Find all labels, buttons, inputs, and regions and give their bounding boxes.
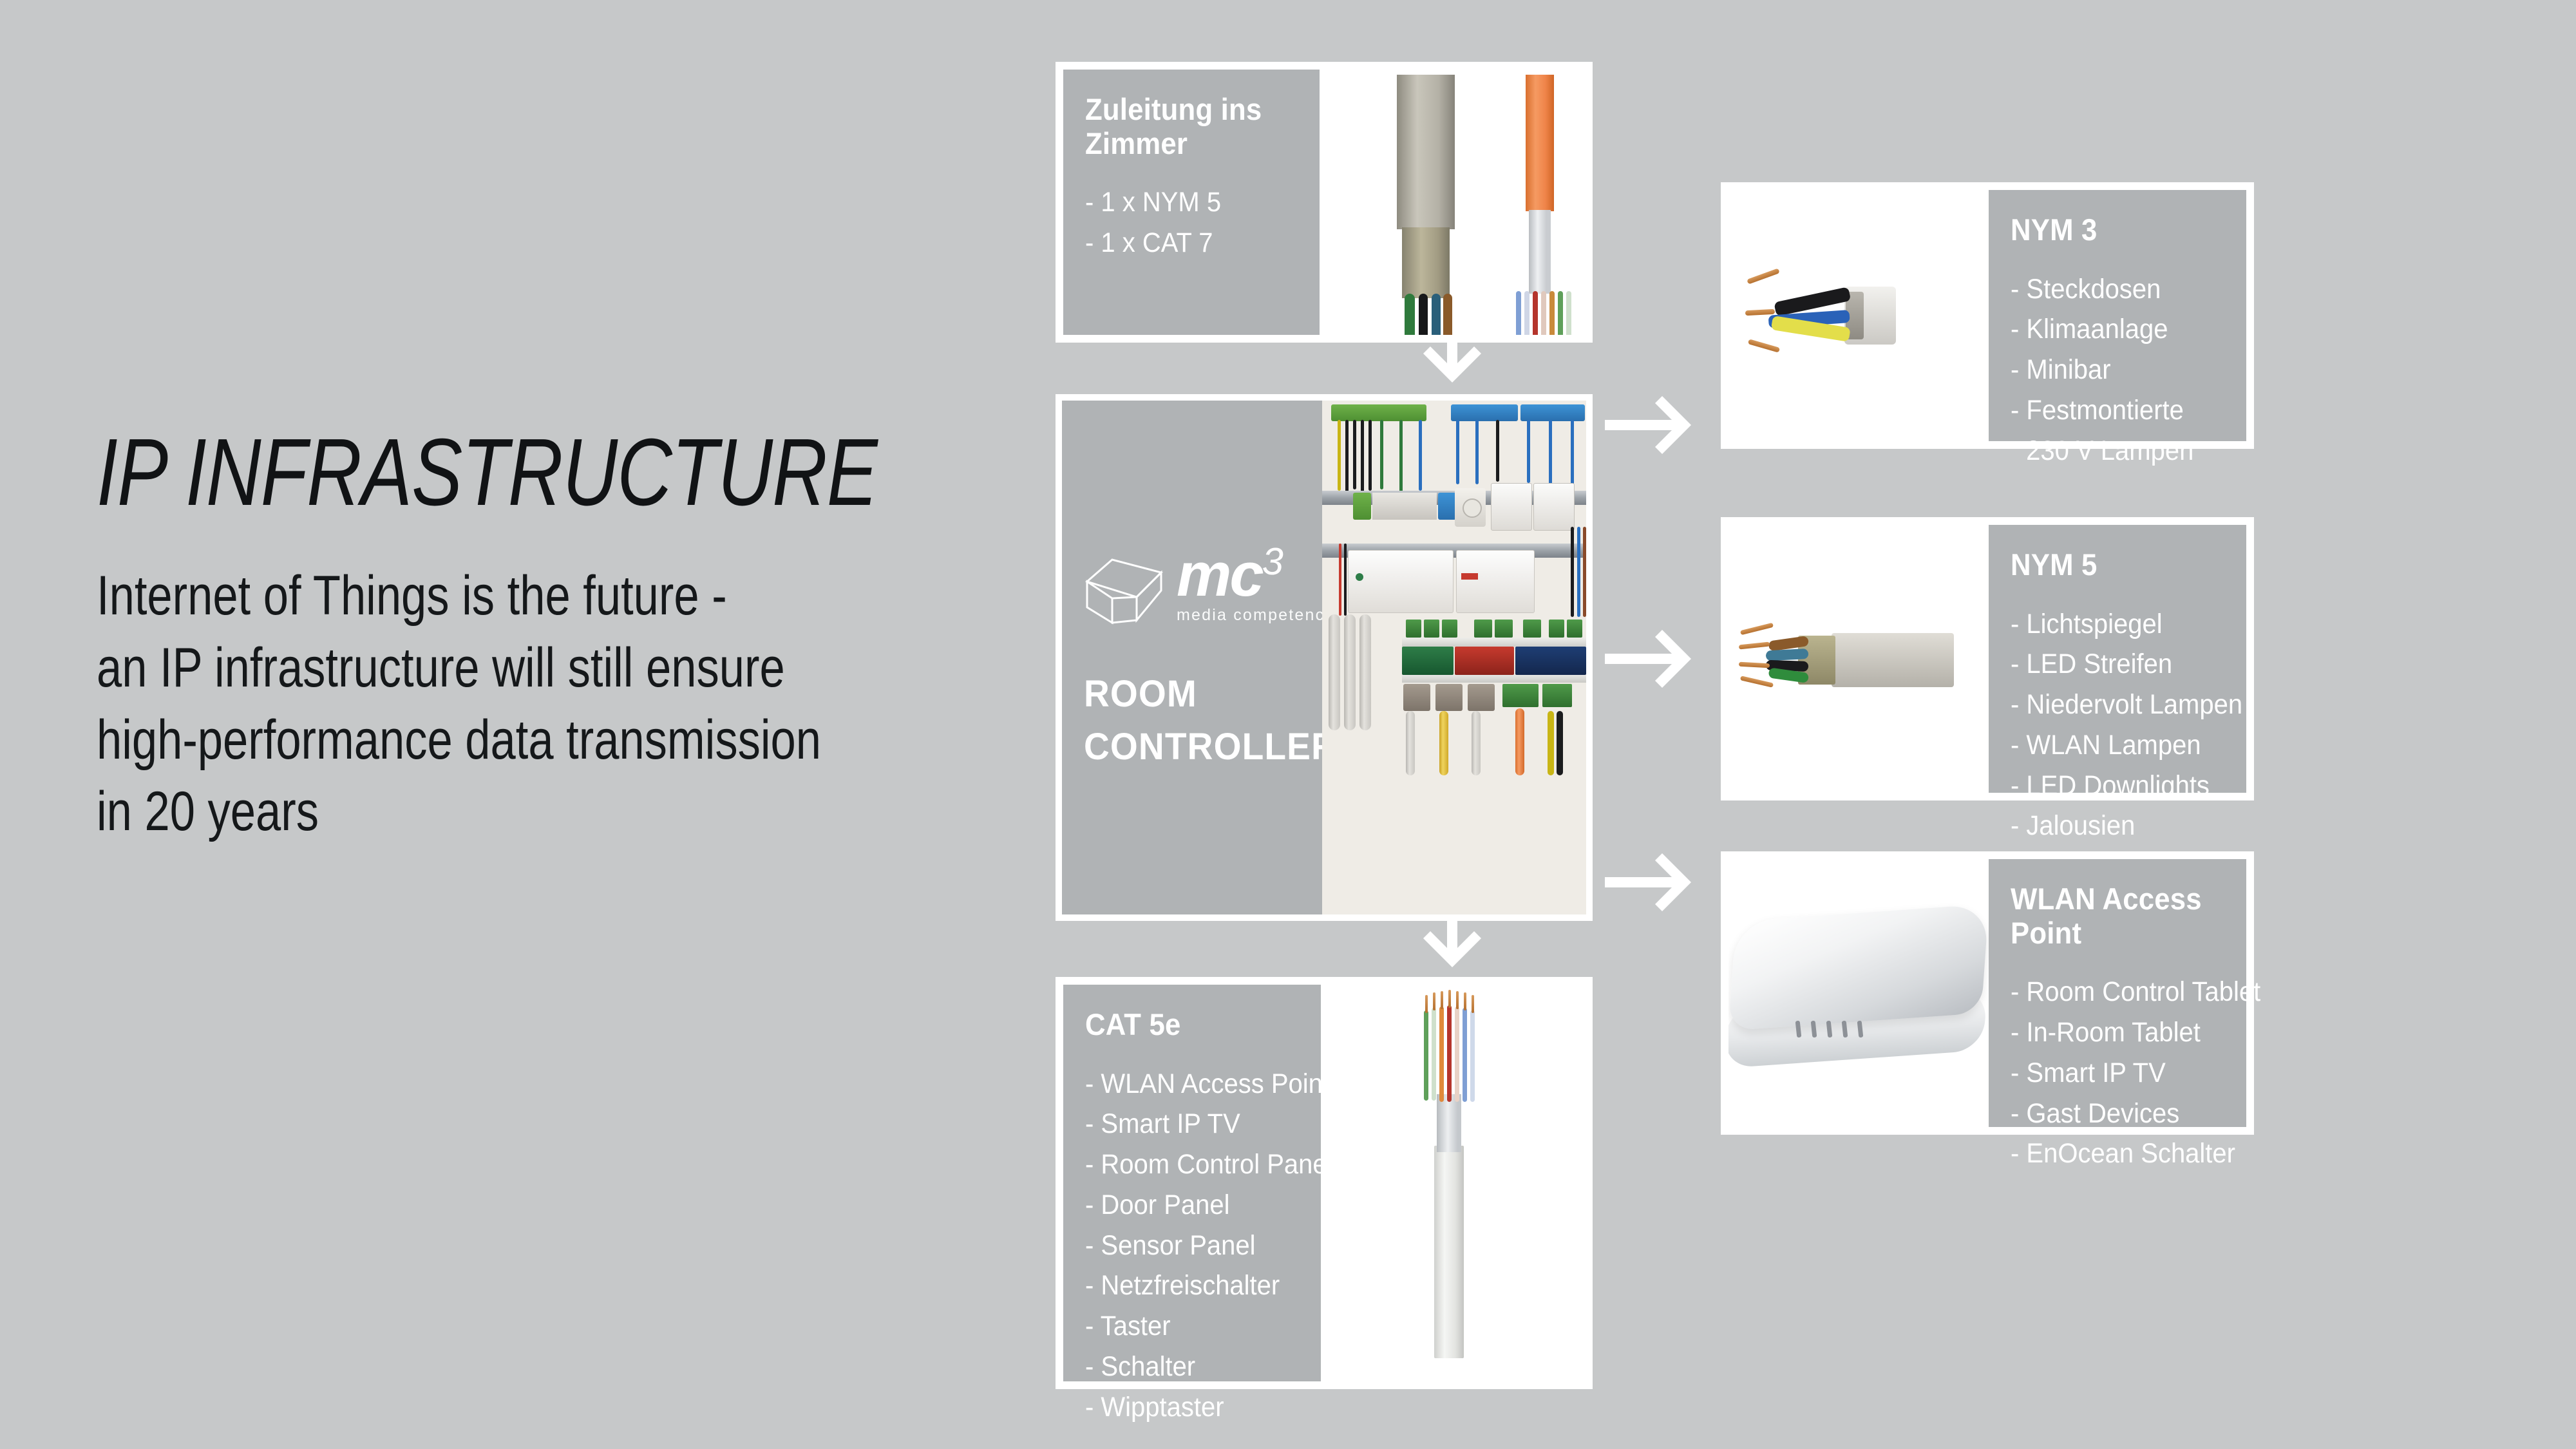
- mc3-logo: mc3 media competence: [1084, 542, 1300, 628]
- nym3-cable-photo: [1728, 190, 1989, 441]
- card-zuleitung-ins-zimmer[interactable]: Zuleitung ins Zimmer - 1 x NYM 5 - 1 x C…: [1056, 62, 1593, 343]
- arrow-roomcontroller-to-wlan: [1605, 851, 1714, 913]
- subtitle-line-4: in 20 years: [97, 776, 889, 848]
- list-item: 230 V Lampen: [2011, 431, 2210, 471]
- card-room-controller[interactable]: mc3 media competence ROOM CONTROLLER: [1056, 394, 1593, 921]
- wlan-access-point-photo: [1728, 859, 1989, 1127]
- list-item: - WLAN Lampen: [2011, 725, 2210, 766]
- list-item: - Jalousien: [2011, 806, 2210, 846]
- list-item: - Door Panel: [1085, 1185, 1284, 1226]
- card-nym3[interactable]: NYM 3 - Steckdosen - Klimaanlage - Minib…: [1721, 182, 2254, 449]
- card-zuleitung-title-line-2: Zimmer: [1085, 126, 1188, 160]
- card-zuleitung-title-line-1: Zuleitung ins: [1085, 92, 1262, 126]
- list-item: - Steckdosen: [2011, 269, 2210, 310]
- card-nym5-panel: NYM 5 - Lichtspiegel - LED Streifen - Ni…: [1989, 525, 2246, 793]
- arrow-roomcontroller-to-nym3: [1605, 394, 1714, 456]
- slide-canvas: IP INFRASTRUCTURE Internet of Things is …: [0, 0, 2576, 1449]
- list-item: - Schalter: [1085, 1347, 1284, 1387]
- card-zuleitung-title: Zuleitung ins Zimmer: [1085, 93, 1283, 160]
- list-item: - Lichtspiegel: [2011, 604, 2210, 645]
- card-cat5e-panel: CAT 5e - WLAN Access Point - Smart IP TV…: [1063, 985, 1321, 1381]
- list-item: - Sensor Panel: [1085, 1226, 1284, 1266]
- card-cat5e-list: - WLAN Access Point - Smart IP TV - Room…: [1085, 1064, 1299, 1428]
- list-item: - Festmontierte: [2011, 390, 2210, 431]
- card-room-controller-title: ROOM CONTROLLER: [1084, 668, 1300, 774]
- page-title: IP INFRASTRUCTURE: [97, 425, 869, 520]
- card-wlan-list: - Room Control Tablet - In-Room Tablet -…: [2011, 972, 2224, 1174]
- list-item: - EnOcean Schalter: [2011, 1133, 2210, 1174]
- list-item: - LED Downlights: [2011, 766, 2210, 806]
- subtitle-line-2: an IP infrastructure will still ensure: [97, 632, 889, 705]
- list-item: - Smart IP TV: [2011, 1053, 2210, 1094]
- card-nym3-list: - Steckdosen - Klimaanlage - Minibar - F…: [2011, 269, 2224, 471]
- card-zuleitung-list: - 1 x NYM 5 - 1 x CAT 7: [1085, 182, 1298, 263]
- card-nym5-title: NYM 5: [2011, 548, 2210, 582]
- arrow-roomcontroller-to-nym5: [1605, 628, 1714, 690]
- room-controller-title-line-2: CONTROLLER: [1084, 721, 1289, 773]
- access-point-device: [1728, 913, 1989, 1074]
- list-item: - Minibar: [2011, 350, 2210, 390]
- list-item: - Gast Devices: [2011, 1094, 2210, 1134]
- card-nym3-panel: NYM 3 - Steckdosen - Klimaanlage - Minib…: [1989, 190, 2246, 441]
- card-nym3-title: NYM 3: [2011, 213, 2210, 247]
- card-cat5e-title: CAT 5e: [1085, 1008, 1284, 1042]
- list-item: - Wipptaster: [1085, 1387, 1284, 1428]
- card-nym5-list: - Lichtspiegel - LED Streifen - Niedervo…: [2011, 604, 2224, 847]
- card-wlan-access-point[interactable]: WLAN Access Point - Room Control Tablet …: [1721, 851, 2254, 1135]
- list-item: - Netzfreischalter: [1085, 1265, 1284, 1306]
- list-item: - Taster: [1085, 1306, 1284, 1347]
- card-wlan-panel: WLAN Access Point - Room Control Tablet …: [1989, 859, 2246, 1127]
- card-wlan-title: WLAN Access Point: [2011, 882, 2210, 950]
- card-zuleitung-panel: Zuleitung ins Zimmer - 1 x NYM 5 - 1 x C…: [1063, 70, 1320, 335]
- list-item: - Room Control Tablet: [2011, 972, 2210, 1012]
- list-item: - Room Control Panel: [1085, 1144, 1284, 1185]
- list-item: - LED Streifen: [2011, 644, 2210, 685]
- list-item: - 1 x CAT 7: [1085, 223, 1283, 263]
- list-item: - 1 x NYM 5: [1085, 182, 1283, 223]
- list-item: - In-Room Tablet: [2011, 1012, 2210, 1053]
- list-item: - WLAN Access Point: [1085, 1064, 1284, 1104]
- mc3-tagline: media competence: [1177, 606, 1335, 625]
- card-cat5e[interactable]: CAT 5e - WLAN Access Point - Smart IP TV…: [1056, 977, 1593, 1389]
- list-item: - Niedervolt Lampen: [2011, 685, 2210, 725]
- arrow-roomcontroller-to-cat5e: [1414, 920, 1491, 975]
- page-subtitle: Internet of Things is the future - an IP…: [97, 560, 889, 848]
- headline-block: IP INFRASTRUCTURE Internet of Things is …: [97, 425, 1063, 848]
- room-controller-cabinet-photo: [1322, 401, 1586, 914]
- list-item: - Smart IP TV: [1085, 1104, 1284, 1144]
- cat5e-cable-photo: [1321, 985, 1585, 1381]
- nym5-cable-photo: [1728, 525, 1989, 793]
- cube-icon: [1084, 553, 1165, 628]
- mc3-wordmark: mc3: [1177, 544, 1335, 603]
- arrow-zuleitung-to-roomcontroller: [1414, 335, 1491, 390]
- subtitle-line-3: high-performance data transmission: [97, 705, 889, 777]
- nym5-and-cat7-cable-photo: [1320, 70, 1585, 335]
- card-room-controller-panel: mc3 media competence ROOM CONTROLLER: [1062, 401, 1322, 914]
- card-nym5[interactable]: NYM 5 - Lichtspiegel - LED Streifen - Ni…: [1721, 517, 2254, 800]
- subtitle-line-1: Internet of Things is the future -: [97, 560, 889, 632]
- list-item: - Klimaanlage: [2011, 309, 2210, 350]
- room-controller-title-line-1: ROOM: [1084, 668, 1289, 721]
